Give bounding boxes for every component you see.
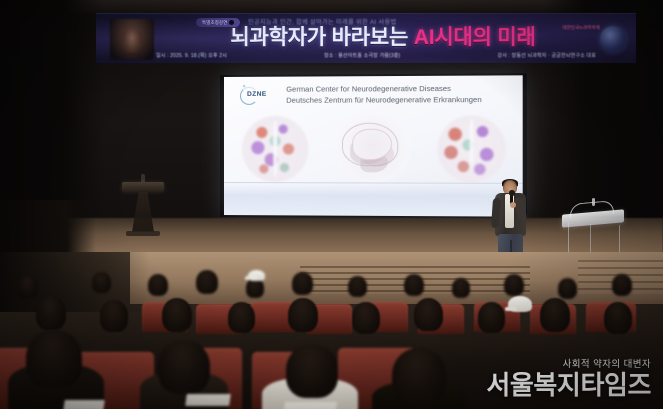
presenter-hand — [510, 202, 516, 208]
audience-head — [162, 298, 192, 332]
audience-head — [348, 276, 367, 297]
audience-head — [288, 298, 318, 332]
audience-head — [612, 274, 632, 296]
slide-title-english: German Center for Neurodegenerative Dise… — [286, 84, 481, 96]
banner-meta-date: 일시 : 2025. 9. 18.(목) 오후 2시 — [156, 52, 227, 59]
axial-brain-scan-figure — [242, 116, 308, 182]
audience-head — [286, 344, 338, 398]
audience-head — [404, 274, 424, 296]
banner-subtitle: 인공지능과 인간, 함께 살아가는 미래를 위한 AI 사용법 — [248, 17, 396, 26]
dark-podium — [122, 172, 164, 238]
audience-head — [100, 300, 128, 332]
event-banner: 특별초청강연 인공지능과 인간, 함께 살아가는 미래를 위한 AI 사용법 뇌… — [96, 13, 636, 63]
slide-footer-band — [224, 182, 523, 217]
banner-meta: 일시 : 2025. 9. 18.(목) 오후 2시 장소 : 용산아트홀 소극… — [156, 52, 596, 59]
audience-head — [26, 330, 82, 388]
banner-title-white: 뇌과학자가 바라보는 — [230, 26, 408, 49]
coronal-brain-scan-figure — [437, 115, 506, 183]
slide-brain-figures — [242, 112, 506, 186]
audience-head — [504, 274, 524, 296]
dzne-logo-icon: ✦ DZNE — [240, 86, 274, 104]
audience-seating-area — [0, 252, 663, 409]
banner-logo-emblem-icon — [600, 26, 626, 52]
slide-title-block: German Center for Neurodegenerative Dise… — [286, 84, 481, 106]
projection-screen: ✦ DZNE German Center for Neurodegenerati… — [224, 75, 523, 216]
podium-post — [132, 192, 154, 232]
audience-head — [158, 340, 210, 394]
audience-head — [18, 276, 38, 298]
audience-head — [558, 278, 577, 299]
audience-head — [392, 348, 446, 404]
slide-title-german: Deutsches Zentrum für Neurodegenerative … — [286, 94, 481, 105]
lecture-hall-photo: 특별초청강연 인공지능과 인간, 함께 살아가는 미래를 위한 AI 사용법 뇌… — [0, 0, 663, 409]
audience-head — [196, 270, 218, 294]
banner-badge-dot — [229, 20, 234, 25]
dzne-logo-text: DZNE — [247, 91, 267, 98]
audience-head — [414, 298, 443, 331]
audience-handout — [63, 400, 105, 409]
audience-white-cap — [508, 296, 532, 312]
audience-white-cap — [248, 270, 265, 281]
banner-meta-venue: 장소 : 용산아트홀 소극장 가람(3층) — [324, 52, 400, 59]
audience-head — [604, 302, 632, 334]
banner-title: 뇌과학자가 바라보는 AI시대의 미래 — [148, 26, 618, 50]
audience-head — [292, 272, 313, 295]
dzne-logo-sparks-icon: ✦ — [242, 85, 246, 90]
audience-head — [478, 302, 505, 333]
podium-base — [126, 231, 160, 236]
banner-right-logo: 대한민국\n과학축제 — [570, 18, 630, 58]
audience-head — [246, 278, 264, 298]
banner-badge-label: 특별초청강연 — [202, 20, 227, 25]
audience-handout — [283, 402, 337, 409]
podium-top — [122, 182, 164, 192]
audience-head — [540, 298, 570, 332]
brain-line-sketch-figure — [336, 116, 410, 183]
audience-head — [36, 296, 66, 330]
audience-head — [228, 302, 255, 333]
audience-handout — [185, 394, 231, 406]
banner-right-logo-label: 대한민국\n과학축제 — [562, 25, 600, 31]
audience-head — [352, 302, 380, 334]
audience-head — [92, 272, 111, 293]
audience-head — [148, 274, 168, 296]
projection-screen-frame: ✦ DZNE German Center for Neurodegenerati… — [220, 73, 527, 218]
banner-title-pink: AI시대의 미래 — [414, 26, 536, 49]
audience-head — [452, 278, 470, 298]
